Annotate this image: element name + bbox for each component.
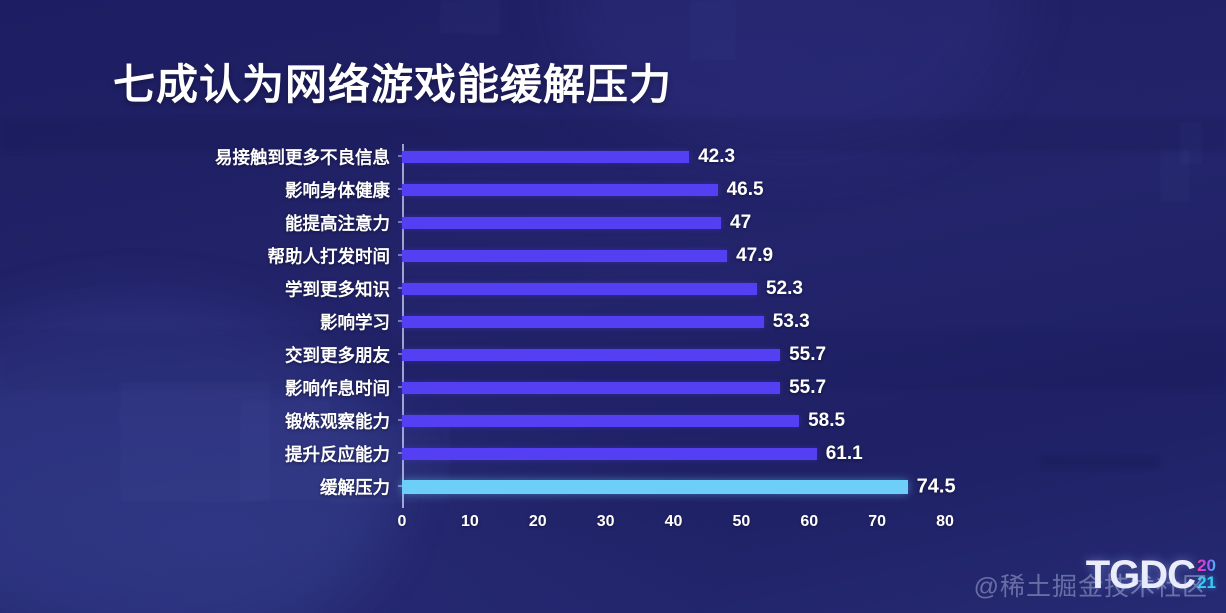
slide-canvas: 七成认为网络游戏能缓解压力 易接触到更多不良信息 42.3 影响身体健康 — [0, 0, 1226, 613]
plot-area: 易接触到更多不良信息 42.3 影响身体健康 46.5 能提高注意力 47 帮助… — [402, 140, 945, 508]
logo-year-bottom: 21 — [1197, 574, 1216, 591]
bar[interactable]: 46.5 — [402, 184, 718, 196]
category-label: 影响身体健康 — [285, 177, 390, 202]
bar-value-label: 74.5 — [917, 475, 956, 498]
bar-value-label: 52.3 — [766, 278, 803, 300]
axis-tick-label: 60 — [800, 513, 818, 531]
category-label: 学到更多知识 — [285, 276, 390, 301]
background-building-b — [690, 0, 736, 60]
axis-tick-label: 50 — [732, 513, 750, 531]
bar-value-label: 55.7 — [789, 377, 826, 399]
axis-tick-label: 40 — [665, 513, 683, 531]
bar-value-label: 47 — [730, 212, 751, 234]
bar-row[interactable]: 影响身体健康 46.5 — [402, 173, 945, 206]
category-label: 缓解压力 — [320, 474, 390, 499]
axis-tick-label: 0 — [398, 513, 407, 531]
category-label: 提升反应能力 — [285, 441, 390, 466]
bar-row[interactable]: 交到更多朋友 55.7 — [402, 338, 945, 371]
bar-row[interactable]: 能提高注意力 47 — [402, 206, 945, 239]
bar-value-label: 61.1 — [826, 443, 863, 465]
bar-row[interactable]: 易接触到更多不良信息 42.3 — [402, 140, 945, 173]
bar[interactable]: 55.7 — [402, 349, 780, 361]
bar-value-label: 53.3 — [773, 311, 810, 333]
bar[interactable]: 53.3 — [402, 316, 764, 328]
bar-value-label: 47.9 — [736, 245, 773, 267]
bar[interactable]: 58.5 — [402, 415, 799, 427]
category-label: 影响学习 — [320, 309, 390, 334]
axis-tick-label: 10 — [461, 513, 479, 531]
category-label: 交到更多朋友 — [285, 342, 390, 367]
axis-tick-label: 20 — [529, 513, 547, 531]
logo-year: 20 21 — [1197, 557, 1216, 591]
bar-row[interactable]: 影响作息时间 55.7 — [402, 371, 945, 404]
bar-value-label: 55.7 — [789, 344, 826, 366]
bar-value-label: 58.5 — [808, 410, 845, 432]
bar-value-label: 42.3 — [698, 146, 735, 168]
axis-tick-label: 70 — [868, 513, 886, 531]
category-label: 帮助人打发时间 — [268, 243, 391, 268]
axis-tick-label: 30 — [597, 513, 615, 531]
bar[interactable]: 61.1 — [402, 448, 817, 460]
bar-row[interactable]: 缓解压力 74.5 — [402, 470, 945, 503]
category-label: 锻炼观察能力 — [285, 408, 390, 433]
category-label: 能提高注意力 — [285, 210, 390, 235]
bar[interactable]: 55.7 — [402, 382, 780, 394]
bar-row[interactable]: 影响学习 53.3 — [402, 305, 945, 338]
background-building-a — [440, 0, 500, 34]
bar[interactable]: 47 — [402, 217, 721, 229]
bar[interactable]: 42.3 — [402, 151, 689, 163]
bar-row[interactable]: 锻炼观察能力 58.5 — [402, 404, 945, 437]
bar-row[interactable]: 提升反应能力 61.1 — [402, 437, 945, 470]
bar-chart: 易接触到更多不良信息 42.3 影响身体健康 46.5 能提高注意力 47 帮助… — [0, 140, 1226, 540]
bar-row[interactable]: 学到更多知识 52.3 — [402, 272, 945, 305]
bar-value-label: 46.5 — [727, 179, 764, 201]
logo-year-top: 20 — [1197, 557, 1216, 574]
bar-row[interactable]: 帮助人打发时间 47.9 — [402, 239, 945, 272]
tgdc-logo: TGDC 20 21 — [1086, 557, 1216, 593]
axis-tick-label: 80 — [936, 513, 954, 531]
page-title: 七成认为网络游戏能缓解压力 — [113, 61, 672, 109]
bar-highlighted[interactable]: 74.5 — [402, 480, 908, 494]
value-axis: 0 10 20 30 40 50 60 70 80 — [402, 513, 945, 539]
category-label: 影响作息时间 — [285, 375, 390, 400]
logo-brand-text: TGDC — [1086, 557, 1195, 593]
bar[interactable]: 47.9 — [402, 250, 727, 262]
bar[interactable]: 52.3 — [402, 283, 757, 295]
category-label: 易接触到更多不良信息 — [215, 144, 390, 169]
